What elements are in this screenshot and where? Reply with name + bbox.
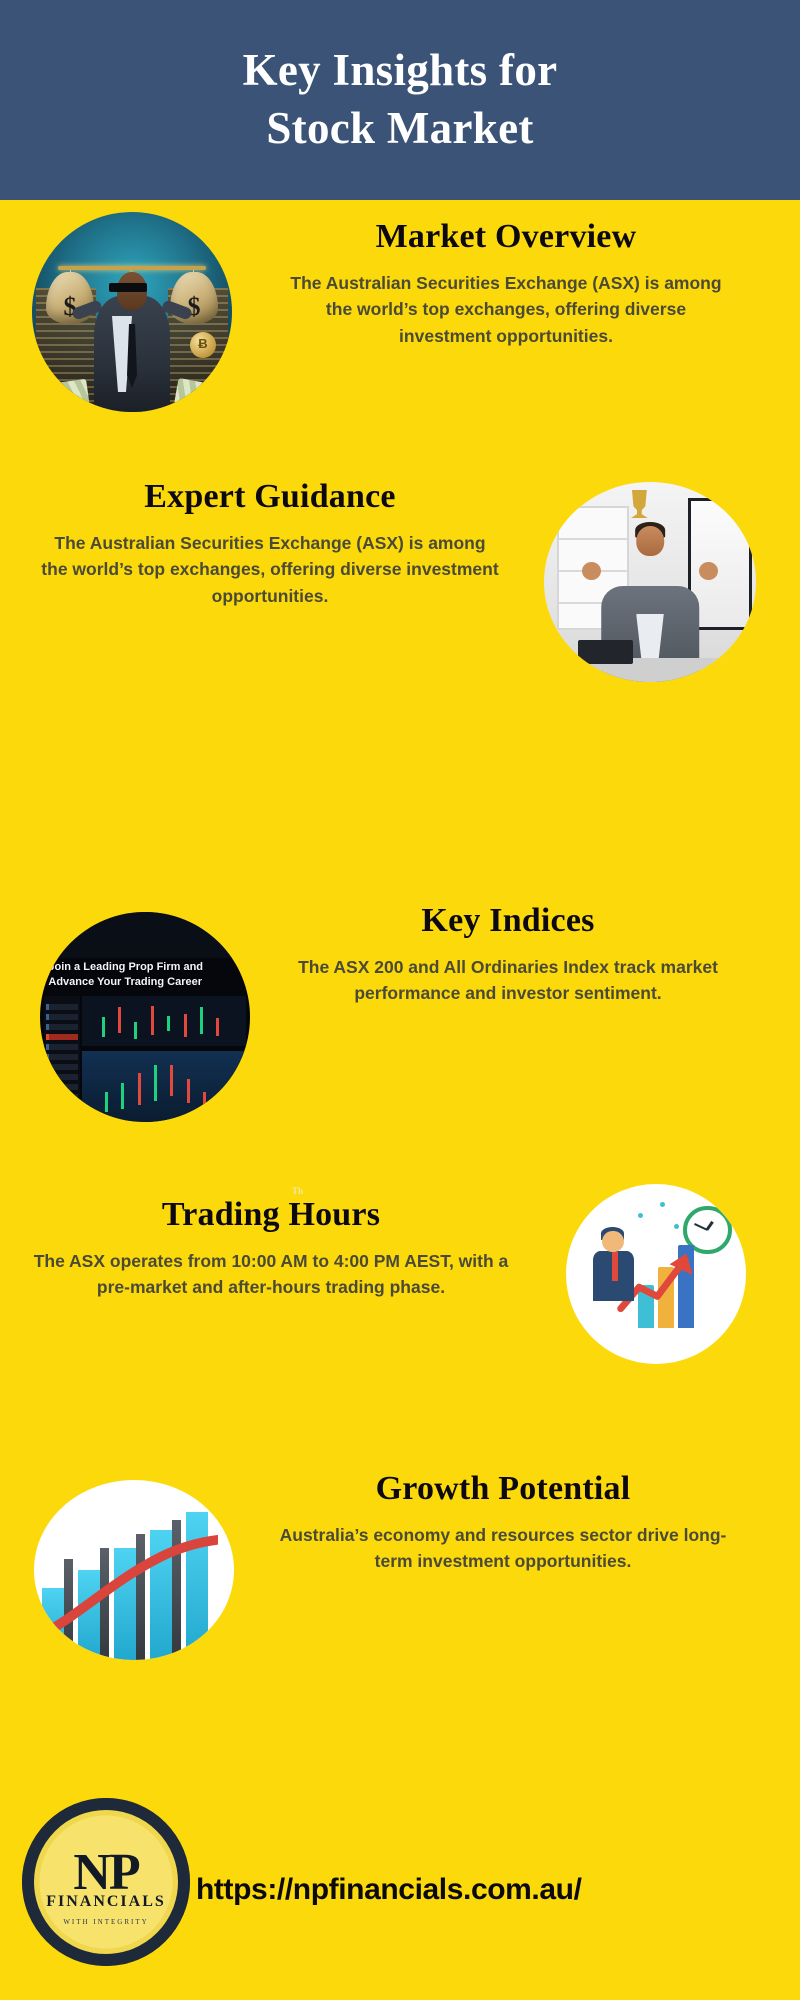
key-indices-image: Join a Leading Prop Firm and Advance You… bbox=[40, 912, 250, 1122]
section-trading-hours: Th bbox=[0, 1160, 800, 1400]
expert-guidance-image bbox=[544, 482, 756, 682]
page-header: Key Insights for Stock Market bbox=[0, 0, 800, 200]
logo-wordmark: FINANCIALS bbox=[22, 1893, 190, 1911]
red-trend-line-icon bbox=[34, 1534, 218, 1649]
laptop-icon bbox=[578, 640, 633, 664]
np-financials-logo: NP FINANCIALS WITH INTEGRITY bbox=[22, 1798, 190, 1966]
page-title-line-1: Key Insights for bbox=[243, 45, 558, 95]
businessman-growth-chart-clock-illustration bbox=[566, 1184, 746, 1364]
section-key-indices: Join a Leading Prop Firm and Advance You… bbox=[0, 890, 800, 1130]
market-overview-body: The Australian Securities Exchange (ASX)… bbox=[256, 270, 756, 349]
page-footer: NP FINANCIALS WITH INTEGRITY https://npf… bbox=[0, 1780, 800, 2000]
expert-guidance-title: Expert Guidance bbox=[10, 478, 530, 516]
page-title: Key Insights for Stock Market bbox=[243, 42, 558, 157]
rising-bar-chart-red-trend-line-illustration bbox=[34, 1480, 234, 1660]
market-overview-image: $ $ € Ƀ bbox=[32, 212, 232, 412]
section-expert-guidance: Expert Guidance The Australian Securitie… bbox=[0, 470, 800, 710]
trading-terminal-candlestick-charts-photo: Join a Leading Prop Firm and Advance You… bbox=[40, 912, 250, 1122]
growth-potential-text: Growth Potential Australia’s economy and… bbox=[248, 1470, 758, 1575]
blindfolded-businessman-scales-money-bags-photo: $ $ € Ƀ bbox=[32, 212, 232, 412]
trading-hours-ghost-text: Th bbox=[292, 1186, 303, 1196]
blindfold-icon bbox=[109, 283, 147, 292]
market-overview-title: Market Overview bbox=[256, 218, 756, 256]
trading-hours-body: The ASX operates from 10:00 AM to 4:00 P… bbox=[4, 1248, 538, 1301]
market-overview-text: Market Overview The Australian Securitie… bbox=[256, 218, 756, 349]
trading-hours-text: Trading Hours The ASX operates from 10:0… bbox=[4, 1196, 538, 1301]
key-indices-text: Key Indices The ASX 200 and All Ordinari… bbox=[258, 902, 758, 1007]
key-indices-title: Key Indices bbox=[258, 902, 758, 940]
expert-guidance-body: The Australian Securities Exchange (ASX)… bbox=[10, 530, 530, 609]
section-growth-potential: Growth Potential Australia’s economy and… bbox=[0, 1460, 800, 1690]
trading-hours-image bbox=[566, 1184, 746, 1364]
key-indices-image-overlay: Join a Leading Prop Firm and Advance You… bbox=[48, 960, 241, 990]
trophy-icon bbox=[625, 490, 655, 518]
page-title-line-2: Stock Market bbox=[243, 100, 558, 158]
expert-guidance-text: Expert Guidance The Australian Securitie… bbox=[10, 478, 530, 609]
logo-tagline: WITH INTEGRITY bbox=[22, 1918, 190, 1926]
growth-potential-title: Growth Potential bbox=[248, 1470, 758, 1508]
infographic-page: Key Insights for Stock Market $ $ € bbox=[0, 0, 800, 2000]
growth-potential-image bbox=[34, 1480, 234, 1660]
growth-potential-body: Australia’s economy and resources sector… bbox=[248, 1522, 758, 1575]
key-indices-body: The ASX 200 and All Ordinaries Index tra… bbox=[258, 954, 758, 1007]
website-url[interactable]: https://npfinancials.com.au/ bbox=[196, 1873, 582, 1907]
presenter-whiteboard-office-photo bbox=[544, 482, 756, 682]
trading-hours-title: Trading Hours bbox=[4, 1196, 538, 1234]
overlay-line-1: Join a Leading Prop Firm and bbox=[48, 960, 241, 975]
section-market-overview: $ $ € Ƀ Market Overview The Australian S… bbox=[0, 200, 800, 460]
overlay-line-2: Advance Your Trading Career bbox=[48, 975, 241, 990]
bitcoin-coin-icon: Ƀ bbox=[190, 332, 216, 358]
